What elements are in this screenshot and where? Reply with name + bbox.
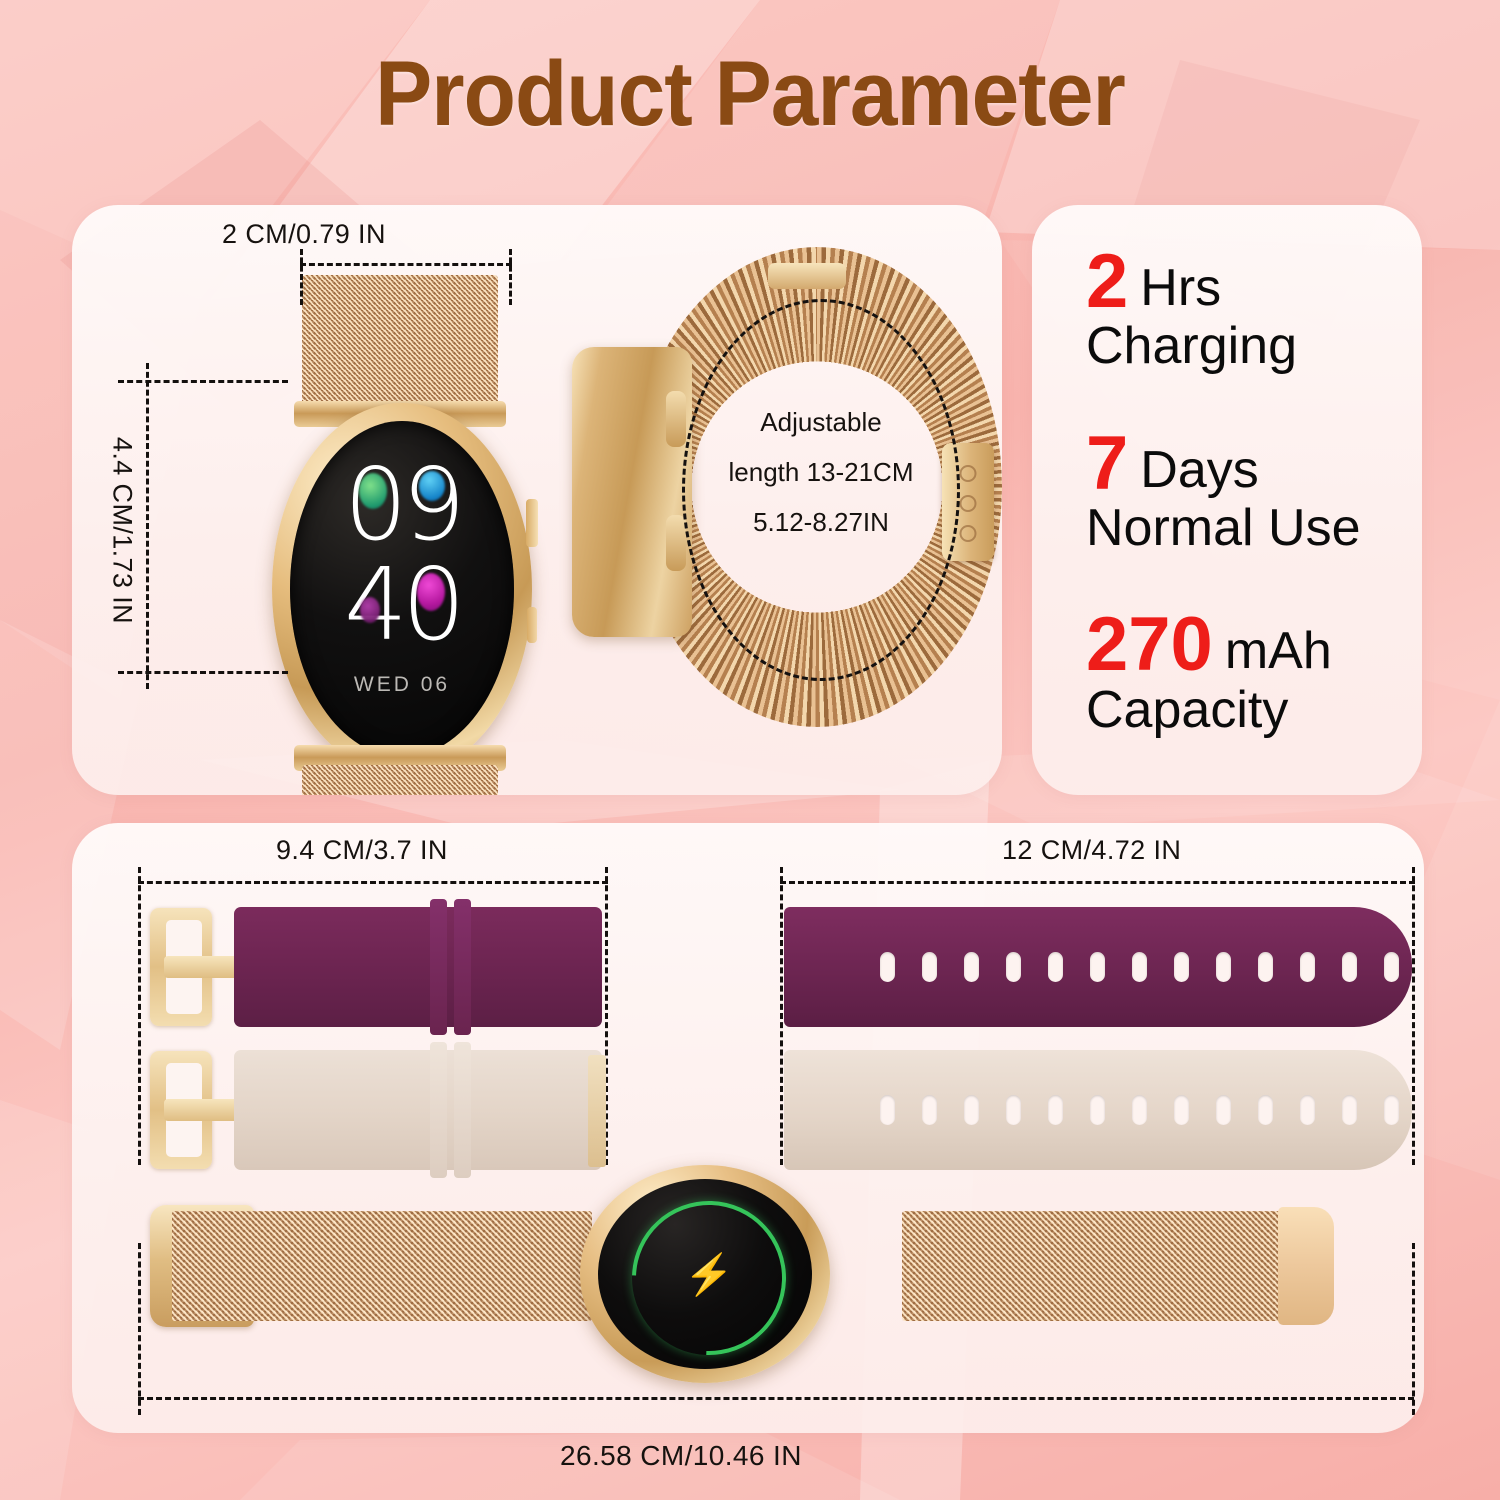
strap-hole xyxy=(1006,1095,1021,1125)
digit-hour-tens: 0 xyxy=(344,457,402,553)
spec-capacity: 270mAh Capacity xyxy=(1086,608,1416,738)
watch-dimensions-card: 0 9 4 0 WED 06 xyxy=(72,205,1002,795)
battery-specs-card: 2Hrs Charging 7Days Normal Use 270mAh Ca… xyxy=(1032,205,1422,795)
mesh-band-top xyxy=(302,275,498,415)
mesh-band-right xyxy=(902,1211,1302,1321)
mesh-band-bottom xyxy=(302,765,498,795)
case-width-tick-right xyxy=(509,249,512,305)
strap-beige-tongue xyxy=(164,1099,242,1121)
strap-purple-body xyxy=(234,907,602,1027)
strap-hole xyxy=(1300,952,1315,982)
case-height-tick-top xyxy=(118,380,288,383)
watch-front-view: 0 9 4 0 WED 06 xyxy=(272,275,532,795)
case-width-dim-line xyxy=(300,263,512,266)
strap-beige-keeper-1 xyxy=(430,1042,447,1178)
strap-beige-tip xyxy=(588,1055,606,1167)
watch-time-hours: 0 9 xyxy=(290,457,514,553)
strap-hole xyxy=(880,1095,895,1125)
watch-with-mesh-band: ⚡ xyxy=(150,1165,1350,1385)
strap-purple-tongue xyxy=(164,956,242,978)
strap-dimensions-card: 9.4 CM/3.7 IN 12 CM/4.72 IN xyxy=(72,823,1424,1433)
spec-capacity-label: Capacity xyxy=(1086,683,1416,738)
strap-beige-body xyxy=(234,1050,602,1170)
watch-case-charging: ⚡ xyxy=(580,1165,830,1383)
spec-capacity-number: 270 xyxy=(1086,602,1213,687)
strap-hole xyxy=(1090,1095,1105,1125)
spec-usage-unit: Days xyxy=(1128,441,1258,499)
case-width-label: 2 CM/0.79 IN xyxy=(222,219,386,250)
lightning-bolt-icon: ⚡ xyxy=(684,1257,726,1293)
strap-beige-keeper-2 xyxy=(454,1042,471,1178)
strap-hole xyxy=(1090,952,1105,982)
spec-charging-label: Charging xyxy=(1086,319,1416,374)
strap-hole xyxy=(1216,1095,1231,1125)
strap-hole xyxy=(1342,1095,1357,1125)
adjustable-length-note: Adjustable length 13-21CM 5.12-8.27IN xyxy=(692,397,950,547)
spec-capacity-unit: mAh xyxy=(1213,622,1332,680)
case-height-dim-line xyxy=(146,363,149,689)
total-length-label: 26.58 CM/10.46 IN xyxy=(560,1440,802,1472)
watch-side-button-top xyxy=(666,391,686,447)
strap-short-tick-left xyxy=(138,867,141,1165)
spec-usage-label: Normal Use xyxy=(1086,501,1416,556)
mesh-band-left xyxy=(172,1211,592,1321)
strap-hole xyxy=(1174,952,1189,982)
case-height-label: 4.4 CM/1.73 IN xyxy=(107,411,138,651)
strap-hole xyxy=(880,952,895,982)
total-length-tick-right xyxy=(1412,1243,1415,1415)
strap-hole xyxy=(1132,1095,1147,1125)
watch-date-label: WED 06 xyxy=(290,673,514,697)
strap-purple-keeper-1 xyxy=(430,899,447,1035)
strap-hole xyxy=(1342,952,1357,982)
spec-usage: 7Days Normal Use xyxy=(1086,427,1416,557)
strap-long-dim-line xyxy=(780,881,1415,884)
page-title: Product Parameter xyxy=(53,42,1448,147)
adjustable-line-2: length 13-21CM xyxy=(692,447,950,497)
band-top-connector xyxy=(768,263,846,289)
spec-charging: 2Hrs Charging xyxy=(1086,245,1416,375)
strap-long-tick-right xyxy=(1412,867,1415,1165)
strap-hole xyxy=(1258,1095,1273,1125)
spec-charging-unit: Hrs xyxy=(1128,259,1221,317)
strap-hole xyxy=(1174,1095,1189,1125)
strap-hole xyxy=(964,952,979,982)
strap-hole xyxy=(1258,952,1273,982)
mesh-band-end-cap xyxy=(1278,1207,1334,1325)
watch-side-view: Adjustable length 13-21CM 5.12-8.27IN xyxy=(572,247,1002,747)
total-length-dim-line xyxy=(138,1397,1414,1400)
strap-hole xyxy=(1048,952,1063,982)
strap-hole xyxy=(1048,1095,1063,1125)
strap-hole xyxy=(1006,952,1021,982)
strap-hole xyxy=(964,1095,979,1125)
total-length-tick-left xyxy=(138,1243,141,1415)
case-width-tick-left xyxy=(300,249,303,305)
digit-min-units: 0 xyxy=(402,557,460,653)
watch-screen-charging: ⚡ xyxy=(598,1179,812,1369)
watch-time-minutes: 4 0 xyxy=(290,557,514,653)
strap-hole xyxy=(1216,952,1231,982)
strap-hole xyxy=(1384,952,1399,982)
strap-purple-keeper-2 xyxy=(454,899,471,1035)
spec-charging-number: 2 xyxy=(1086,239,1128,324)
watch-case-side xyxy=(572,347,692,637)
spec-usage-number: 7 xyxy=(1086,421,1128,506)
digit-hour-units: 9 xyxy=(402,457,460,553)
strap-hole xyxy=(922,952,937,982)
adjustable-line-1: Adjustable xyxy=(692,397,950,447)
watch-screen: 0 9 4 0 WED 06 xyxy=(290,421,514,757)
strap-hole xyxy=(1300,1095,1315,1125)
specs-list: 2Hrs Charging 7Days Normal Use 270mAh Ca… xyxy=(1086,245,1416,790)
strap-long-tick-left xyxy=(780,867,783,1165)
case-height-tick-bottom xyxy=(118,671,288,674)
watch-side-button-bottom xyxy=(666,515,686,571)
watch-case: 0 9 4 0 WED 06 xyxy=(272,403,532,775)
strap-hole xyxy=(1132,952,1147,982)
strap-long-label: 12 CM/4.72 IN xyxy=(1002,835,1181,866)
strap-hole xyxy=(1384,1095,1399,1125)
strap-short-dim-line xyxy=(138,881,608,884)
strap-hole xyxy=(922,1095,937,1125)
strap-short-label: 9.4 CM/3.7 IN xyxy=(276,835,448,866)
adjustable-line-3: 5.12-8.27IN xyxy=(692,497,950,547)
digit-min-tens: 4 xyxy=(344,557,402,653)
